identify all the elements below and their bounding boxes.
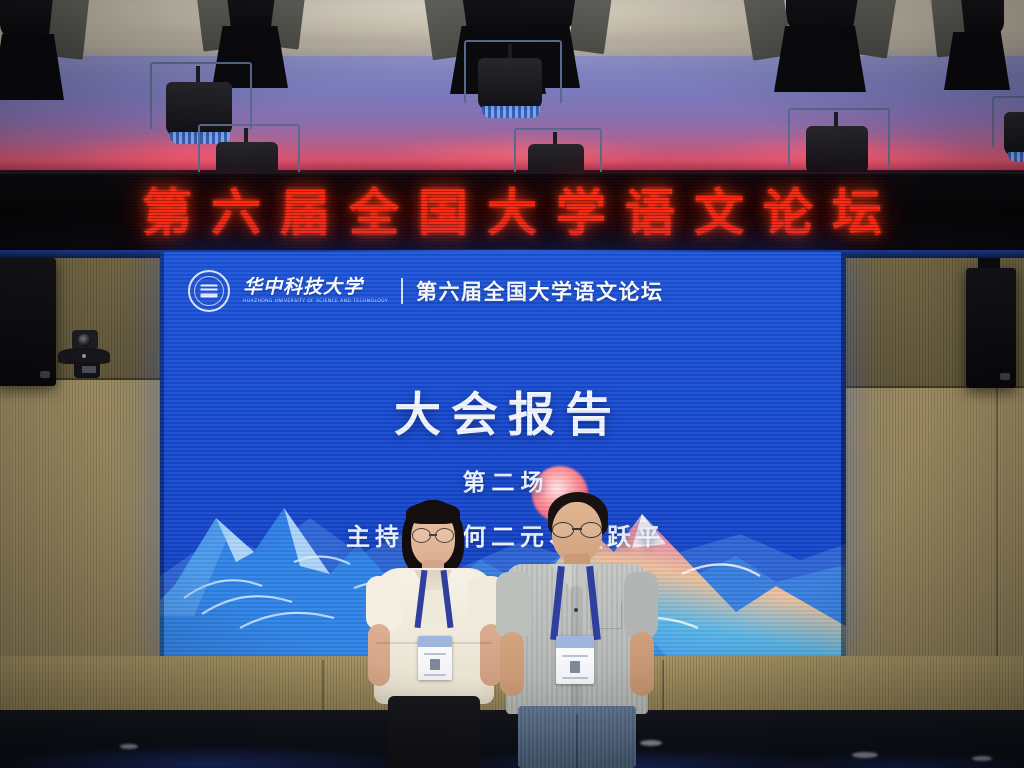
- person-right-forearm-right: [630, 632, 654, 696]
- person-right-glasses: [552, 522, 602, 537]
- conference-stage-photo: 第六届全国大学语文论坛 华中科技大学 HUAZ: [0, 0, 1024, 768]
- person-left-fringe: [406, 502, 460, 524]
- floor-highlight-4: [972, 756, 992, 761]
- wainscot-vseam-1: [322, 660, 324, 710]
- wall-speaker-icon-left: [0, 258, 56, 386]
- header-divider: [401, 278, 403, 304]
- stage-light-par-6: [990, 96, 1024, 176]
- led-banner-text: 第六届全国大学语文论坛: [123, 188, 901, 238]
- person-left-glasses: [412, 528, 454, 542]
- wainscot-vseam-2: [662, 660, 664, 710]
- floor-highlight-3: [852, 752, 878, 758]
- university-name-cn: 华中科技大学: [243, 278, 388, 297]
- person-right: [492, 492, 662, 768]
- person-left-forearm-left: [368, 624, 390, 686]
- stage-light-par-3: [462, 40, 568, 136]
- screen-edge-right: [841, 252, 846, 656]
- person-right-jeans-seam: [576, 714, 578, 768]
- person-left-inner-top: [422, 590, 444, 624]
- floor-highlight-1: [120, 744, 138, 749]
- led-banner: 第六届全国大学语文论坛: [0, 172, 1024, 258]
- person-right-sleeve-left: [496, 572, 532, 638]
- wall-vseam-right: [996, 388, 998, 658]
- speaker-badge-left: [40, 371, 50, 378]
- person-right-button-1: [574, 608, 578, 612]
- hust-seal-icon: [188, 270, 230, 312]
- person-right-sleeve-right: [624, 572, 658, 638]
- person-right-forearm-left: [500, 632, 524, 696]
- hust-seal-mark: [201, 285, 218, 298]
- person-left-sleeve-left: [366, 576, 402, 630]
- screen-edge-left: [160, 252, 164, 656]
- person-left-badge: [418, 636, 452, 680]
- ptz-camera-icon: [56, 330, 112, 384]
- person-right-badge-header: [556, 636, 594, 648]
- person-left-skirt: [388, 696, 480, 768]
- wall-speaker-icon-right: [966, 268, 1016, 388]
- person-right-badge: [556, 636, 594, 684]
- forum-title: 第六届全国大学语文论坛: [416, 276, 664, 306]
- speaker-badge-right: [1000, 373, 1010, 380]
- person-left-badge-header: [418, 636, 452, 647]
- university-name-block: 华中科技大学 HUAZHONG UNIVERSITY OF SCIENCE AN…: [243, 278, 388, 305]
- university-name-en: HUAZHONG UNIVERSITY OF SCIENCE AND TECHN…: [243, 300, 388, 305]
- stage-light-barn-1: [0, 0, 110, 114]
- slide-title: 大会报告: [160, 376, 846, 445]
- slide-header: 华中科技大学 HUAZHONG UNIVERSITY OF SCIENCE AN…: [188, 270, 663, 312]
